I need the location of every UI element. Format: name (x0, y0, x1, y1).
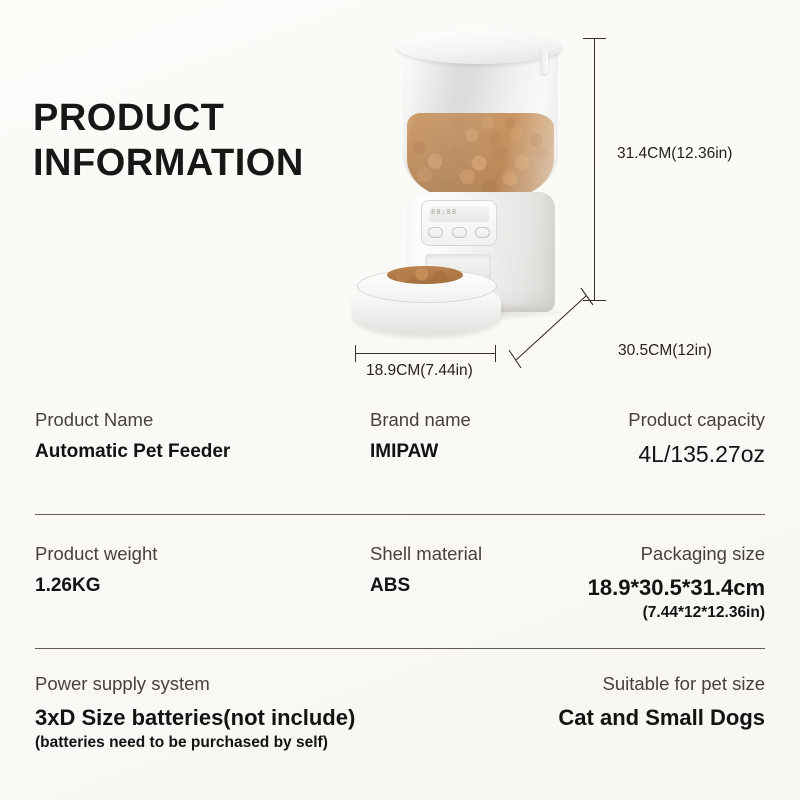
spec-divider-1 (35, 514, 765, 515)
lid-latch-tab (541, 48, 548, 74)
page-title: PRODUCT INFORMATION (33, 96, 373, 186)
spec-value-sub: (7.44*12*12.36in) (588, 604, 765, 623)
spec-cell-shell-material: Shell material ABS (370, 542, 482, 598)
spec-cell-packaging-size: Packaging size 18.9*30.5*31.4cm (7.44*12… (588, 542, 765, 622)
spec-value-sub: (batteries need to be purchased by self) (35, 734, 355, 753)
kibble-heap-in-bowl (387, 266, 463, 284)
control-button-2 (452, 227, 467, 238)
page-title-line-1: PRODUCT (33, 96, 373, 141)
spec-value: 4L/135.27oz (628, 441, 765, 469)
control-button-row (428, 227, 490, 238)
spec-value: 1.26KG (35, 575, 157, 598)
feeding-bowl (353, 269, 501, 337)
spec-value: IMIPAW (370, 441, 471, 464)
food-hopper (403, 44, 558, 199)
spec-divider-2 (35, 648, 765, 649)
spec-cell-product-weight: Product weight 1.26KG (35, 542, 157, 598)
spec-value: 18.9*30.5*31.4cm (588, 575, 765, 601)
width-dimension-tick-right (495, 345, 496, 362)
spec-label: Product capacity (628, 408, 765, 431)
spec-cell-suitable-pet-size: Suitable for pet size Cat and Small Dogs (558, 672, 765, 732)
control-button-3 (475, 227, 490, 238)
spec-value: ABS (370, 575, 482, 598)
spec-cell-power-supply: Power supply system 3xD Size batteries(n… (35, 672, 355, 752)
spec-label: Power supply system (35, 672, 355, 695)
depth-dimension-line (505, 288, 605, 368)
spec-value: Cat and Small Dogs (558, 705, 765, 731)
spec-label: Product Name (35, 408, 230, 431)
spec-label: Product weight (35, 542, 157, 565)
spec-cell-product-capacity: Product capacity 4L/135.27oz (628, 408, 765, 469)
spec-label: Shell material (370, 542, 482, 565)
spec-cell-product-name: Product Name Automatic Pet Feeder (35, 408, 230, 464)
spec-label: Packaging size (588, 542, 765, 565)
depth-dimension-label: 30.5CM(12in) (618, 342, 712, 360)
spec-value: Automatic Pet Feeder (35, 441, 230, 464)
control-button-1 (428, 227, 443, 238)
kibble-in-hopper (407, 113, 554, 199)
product-information-page: PRODUCT INFORMATION 88:88 (0, 0, 800, 800)
spec-value: 3xD Size batteries(not include) (35, 705, 355, 731)
hopper-lid (397, 30, 563, 64)
height-dimension-label: 31.4CM(12.36in) (617, 145, 732, 163)
lcd-display-text: 88:88 (431, 208, 457, 216)
spec-cell-brand-name: Brand name IMIPAW (370, 408, 471, 464)
spec-label: Suitable for pet size (558, 672, 765, 695)
width-dimension-line (355, 353, 495, 354)
width-dimension-label: 18.9CM(7.44in) (366, 362, 473, 380)
control-panel: 88:88 (421, 200, 497, 246)
spec-label: Brand name (370, 408, 471, 431)
page-title-line-2: INFORMATION (33, 141, 373, 186)
height-dimension-line (594, 38, 595, 300)
depth-dimension-svg (505, 288, 605, 368)
